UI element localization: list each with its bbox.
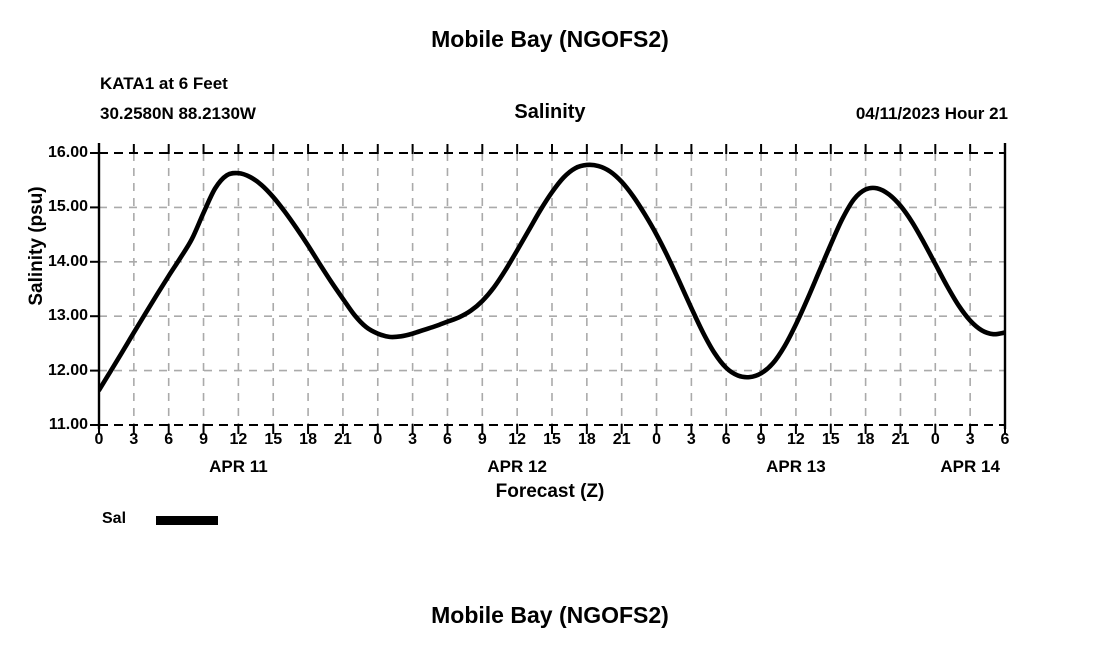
chart-page: Mobile Bay (NGOFS2) KATA1 at 6 Feet 30.2… — [0, 0, 1100, 650]
page-title-bottom: Mobile Bay (NGOFS2) — [0, 602, 1100, 629]
legend-line-swatch — [156, 516, 218, 525]
legend-series-label: Sal — [102, 510, 126, 528]
plot-area — [0, 0, 1100, 650]
